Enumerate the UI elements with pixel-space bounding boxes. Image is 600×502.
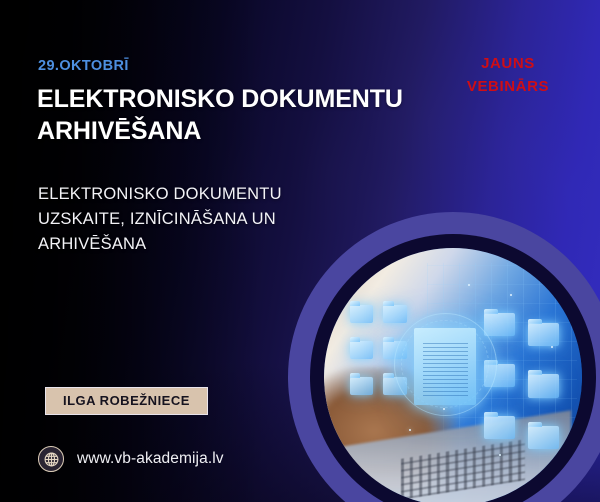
document-icon: [414, 328, 476, 405]
laptop-photo: [324, 248, 582, 502]
folder-icon: [350, 377, 373, 395]
subtitle: ELEKTRONISKO DOKUMENTU UZSKAITE, IZNĪCIN…: [38, 182, 343, 257]
globe-icon: [38, 446, 64, 472]
spark-dot: [409, 429, 411, 431]
folder-icon: [350, 341, 373, 359]
website-url: www.vb-akademija.lv: [77, 450, 224, 468]
website-row[interactable]: www.vb-akademija.lv: [38, 446, 224, 472]
spark-dot: [443, 408, 445, 410]
folder-icon: [528, 426, 559, 449]
promo-badge: JAUNS VEBINĀRS: [448, 52, 568, 99]
speaker-name-badge: ILGA ROBEŽNIECE: [45, 387, 208, 415]
event-date: 29.OKTOBRĪ: [38, 58, 129, 74]
webinar-poster: 29.OKTOBRĪ ELEKTRONISKO DOKUMENTU ARHIVĒ…: [0, 0, 600, 502]
folder-icon: [383, 305, 406, 323]
folder-icon: [350, 305, 373, 323]
page-title: ELEKTRONISKO DOKUMENTU ARHIVĒŠANA: [37, 84, 467, 147]
folder-icon: [484, 416, 515, 439]
folder-icon: [484, 313, 515, 336]
folder-icon: [528, 323, 559, 346]
folder-icon: [528, 374, 559, 397]
